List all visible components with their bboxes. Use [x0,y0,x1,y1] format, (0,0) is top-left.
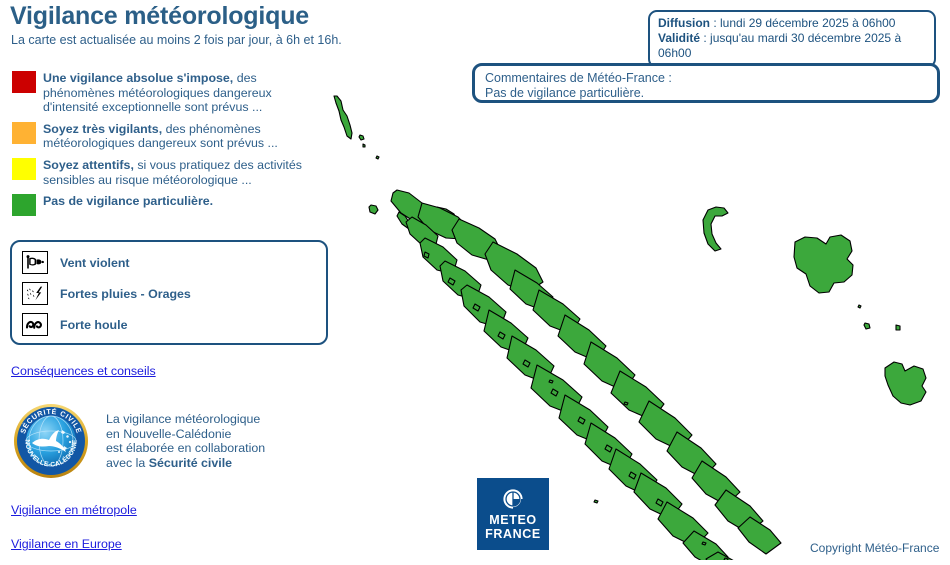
vigilance-map[interactable] [325,90,950,560]
map-reef-dot-2 [549,380,553,383]
vigilance-page: Vigilance météorologique La carte est ac… [0,0,950,565]
diffusion-label: Diffusion [658,16,710,30]
map-commune-mont-dore [738,517,781,554]
legend-row-vert: Pas de vigilance particulière. [12,193,322,216]
legend-text-rouge: Une vigilance absolue s'impose, des phén… [43,70,322,115]
legend-swatch-rouge [12,71,36,93]
legend-row-jaune: Soyez attentifs, si vous pratiquez des a… [12,157,322,187]
securite-civile-text: La vigilance météorologique en Nouvelle-… [106,402,265,470]
map-islet-tiga-2 [896,325,900,330]
meteo-france-word-1: METEO [489,514,536,528]
legend-text-jaune: Soyez attentifs, si vous pratiquez des a… [43,157,322,187]
diffusion-line: Diffusion : lundi 29 décembre 2025 à 06h… [658,16,926,31]
phenomenon-label-pluie: Fortes pluies - Orages [60,287,191,301]
map-reef-dot-7 [858,305,861,308]
copyright-notice: Copyright Météo-France [810,541,939,555]
securite-line-4-bold: Sécurité civile [149,456,232,470]
link-vigilance-europe[interactable]: Vigilance en Europe [11,537,122,551]
legend-text-vert: Pas de vigilance particulière. [43,193,213,209]
legend-swatch-jaune [12,158,36,180]
rain-storm-icon [22,282,48,305]
securite-civile-logo: SÉCURITÉ CIVILE NOUVELLE-CALÉDONIE [12,402,90,480]
phenomenon-label-houle: Forte houle [60,318,127,332]
legend-bold-vert: Pas de vigilance particulière. [43,194,213,208]
map-reef-dot-6 [724,558,728,560]
comments-heading: Commentaires de Météo-France : [485,71,927,86]
legend-bold-rouge: Une vigilance absolue s'impose, [43,71,233,85]
securite-line-1: La vigilance météorologique [106,412,265,427]
securite-line-4-plain: avec la [106,456,149,470]
validite-label: Validité [658,31,700,45]
legend-row-orange: Soyez très vigilants, des phénomènes mét… [12,121,322,151]
windsock-icon [22,251,48,274]
validity-box: Diffusion : lundi 29 décembre 2025 à 06h… [648,10,936,68]
legend-swatch-vert [12,194,36,216]
phenomenon-row-pluie: Fortes pluies - Orages [22,282,326,305]
meteo-france-mark-icon [502,488,524,510]
meteo-france-logo: METEO FRANCE [477,478,549,550]
map-island-lifou [794,235,853,293]
securite-line-3: est élaborée en collaboration [106,441,265,456]
meteo-france-word-2: FRANCE [485,528,541,542]
page-subtitle: La carte est actualisée au moins 2 fois … [11,33,342,47]
heavy-swell-icon [22,313,48,336]
phenomena-box: Vent violent Fortes pluies [10,240,328,345]
phenomenon-row-houle: Forte houle [22,313,326,336]
map-island-mare [885,362,926,405]
legend-row-rouge: Une vigilance absolue s'impose, des phén… [12,70,322,115]
map-islet-daos [369,205,378,214]
colour-legend: Une vigilance absolue s'impose, des phén… [12,70,322,222]
map-island-ouvea [703,207,728,251]
securite-civile-block: SÉCURITÉ CIVILE NOUVELLE-CALÉDONIE La vi… [12,402,312,480]
map-islet-tiga [864,323,870,329]
map-reef-dot-3 [624,402,628,405]
page-title: Vigilance météorologique [10,2,309,31]
link-vigilance-metropole[interactable]: Vigilance en métropole [11,503,137,517]
map-reef-dot-5 [702,542,706,545]
map-island-belep [334,96,352,139]
legend-bold-orange: Soyez très vigilants, [43,122,162,136]
map-reef-dot-1 [376,156,379,159]
map-islet-belep-south [359,135,364,140]
diffusion-value: : lundi 29 décembre 2025 à 06h00 [710,16,895,30]
securite-line-4: avec la Sécurité civile [106,456,265,471]
legend-bold-jaune: Soyez attentifs, [43,158,134,172]
map-islet-belep-south-2 [363,144,365,147]
legend-swatch-orange [12,122,36,144]
map-reef-dot-4 [594,500,598,503]
link-consequences[interactable]: Conséquences et conseils [11,364,156,378]
validite-line: Validité : jusqu'au mardi 30 décembre 20… [658,31,926,61]
securite-line-2: en Nouvelle-Calédonie [106,427,265,442]
phenomenon-label-vent: Vent violent [60,256,130,270]
phenomenon-row-vent: Vent violent [22,251,326,274]
legend-text-orange: Soyez très vigilants, des phénomènes mét… [43,121,322,151]
